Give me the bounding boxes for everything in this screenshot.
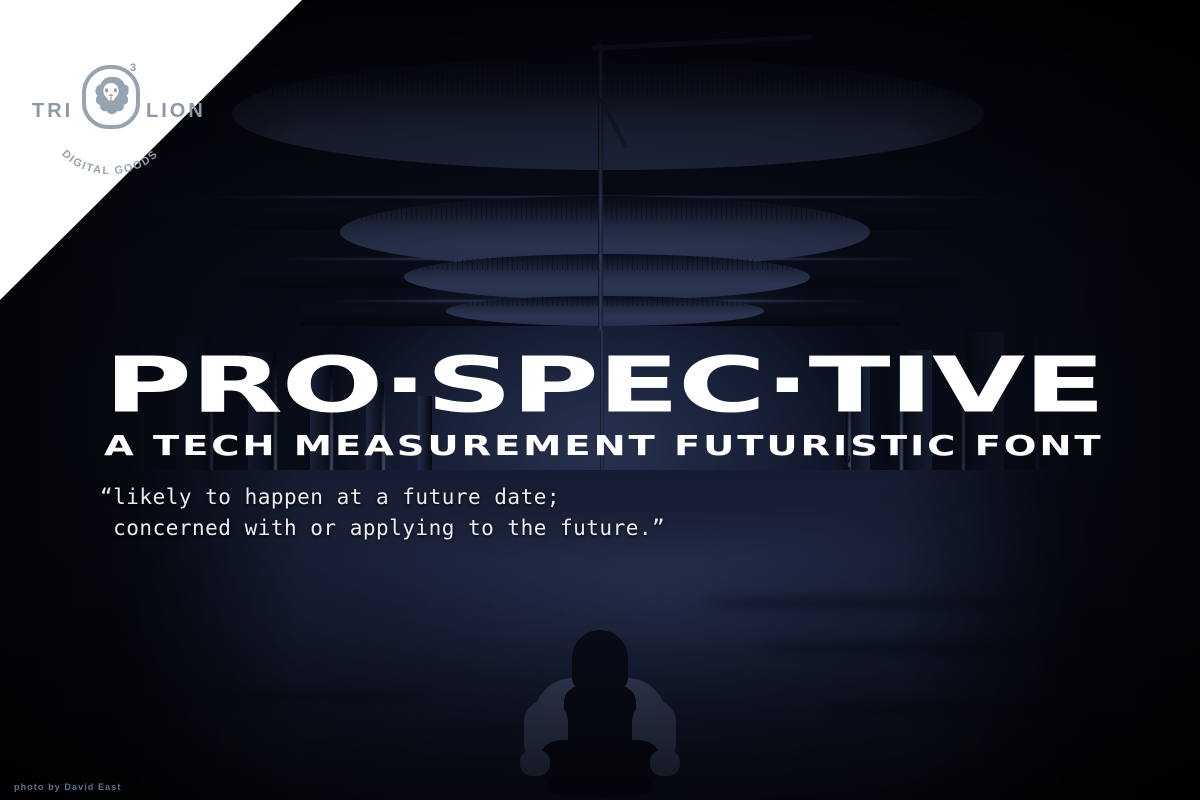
definition-quote: “likely to happen at a future date; conc… [100,482,665,544]
lion-head-icon [90,74,132,118]
logo-word-lion: LION [146,100,206,123]
logo-word-tri: TRI [32,100,73,123]
quote-line-1: “likely to happen at a future date; [100,485,560,509]
logo-tagline-arc: DIGITAL GOODS [50,130,170,164]
figure-face [582,650,618,686]
ceiling-skylight-shade [446,296,764,326]
title-svg: PRO·SPEC·TIVE [104,352,1104,420]
ceiling-skylight-shade [404,254,810,300]
title-text: PRO·SPEC·TIVE [104,352,1104,420]
subtitle-svg: A TECH MEASUREMENT FUTURISTIC FONT [104,430,1104,460]
photo-credit: photo by David East [14,782,121,792]
font-promo-poster: PARKING [0,0,1200,800]
logo-superscript: 3 [130,62,136,74]
poster-subtitle: A TECH MEASUREMENT FUTURISTIC FONT [104,430,1104,460]
figure-hand-left [520,750,550,776]
seated-figure [516,628,684,800]
tri-lion-logo: 3 TRI LION DIGITAL GOODS [20,38,220,138]
figure-hand-right [650,750,680,776]
subtitle-text: A TECH MEASUREMENT FUTURISTIC FONT [104,430,1104,460]
ceiling-conduit [598,44,603,330]
figure-shadow [544,776,656,798]
quote-line-2: concerned with or applying to the future… [100,516,665,540]
poster-title: PRO·SPEC·TIVE [104,352,1104,420]
